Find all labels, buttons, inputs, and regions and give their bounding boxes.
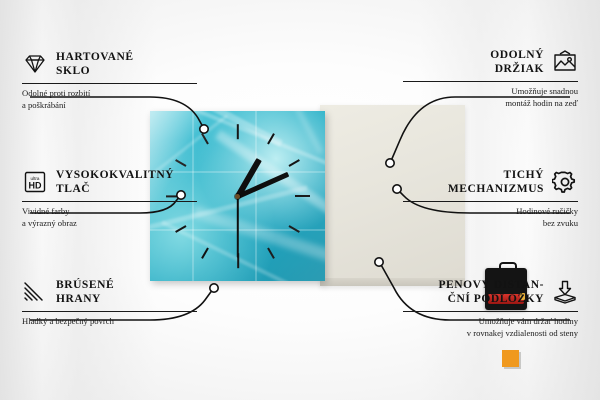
feature-header: HARTOVANÉ SKLO bbox=[22, 50, 197, 78]
feature-divider bbox=[403, 201, 578, 202]
feature-title-line1: HARTOVANÉ bbox=[56, 50, 134, 64]
feature-title: BRÚSENÉ HRANY bbox=[56, 278, 114, 306]
feature-title-line1: PENOVÝ DISTAN- bbox=[438, 278, 544, 292]
foam-spacer-pad bbox=[502, 350, 519, 367]
clock-tick bbox=[267, 247, 275, 258]
feature-header: BRÚSENÉ HRANY bbox=[22, 278, 197, 306]
feature-title: ODOLNÝ DRŽIAK bbox=[490, 48, 544, 76]
clock-tick bbox=[175, 159, 186, 167]
feature-header: ODOLNÝ DRŽIAK bbox=[403, 48, 578, 76]
infographic-canvas: HARTOVANÉ SKLO Odolné proti rozbití a po… bbox=[0, 0, 600, 400]
feature-desc-line2: a výrazný obraz bbox=[22, 218, 197, 230]
feature-silent-mechanism: TICHÝ MECHANIZMUS Hodinové ručičky bez z… bbox=[403, 168, 578, 229]
feature-divider bbox=[22, 201, 197, 202]
feather-streak bbox=[192, 206, 325, 268]
feature-title-line1: BRÚSENÉ bbox=[56, 278, 114, 292]
feature-description: Umožňuje snadnou montáž hodin na zeď bbox=[403, 86, 578, 109]
feature-tempered-glass: HARTOVANÉ SKLO Odolné proti rozbití a po… bbox=[22, 50, 197, 111]
feature-foam-spacers: PENOVÝ DISTAN- ČNÍ PODLOŽKY Umožňuje vám… bbox=[403, 278, 578, 339]
feature-title-line2: MECHANIZMUS bbox=[448, 182, 544, 196]
feature-desc-line2: v rovnakej vzdialenosti od steny bbox=[403, 328, 578, 340]
feature-polished-edges: BRÚSENÉ HRANY Hladký a bezpečný povrch bbox=[22, 278, 197, 328]
feature-title-line2: SKLO bbox=[56, 64, 134, 78]
feature-description: Hladký a bezpečný povrch bbox=[22, 316, 197, 328]
ultra-hd-icon-bottom-label: HD bbox=[29, 181, 42, 191]
glass-panel-seam bbox=[255, 111, 257, 281]
feature-desc-line1: Umožňuje snadnou bbox=[403, 86, 578, 98]
feature-title-line2: HRANY bbox=[56, 292, 114, 306]
feature-desc-line1: Umožňuje vám držať hodiny bbox=[403, 316, 578, 328]
feature-desc-line2: bez zvuku bbox=[403, 218, 578, 230]
feature-title-line1: TICHÝ bbox=[448, 168, 544, 182]
feature-title: HARTOVANÉ SKLO bbox=[56, 50, 134, 78]
feature-header: TICHÝ MECHANIZMUS bbox=[403, 168, 578, 196]
feature-title: PENOVÝ DISTAN- ČNÍ PODLOŽKY bbox=[438, 278, 544, 306]
feature-desc-line1: Hodinové ručičky bbox=[403, 206, 578, 218]
feature-description: Umožňuje vám držať hodiny v rovnakej vzd… bbox=[403, 316, 578, 339]
clock-tick bbox=[236, 124, 238, 139]
feature-title-line2: DRŽIAK bbox=[490, 62, 544, 76]
feature-title-line2: TLAČ bbox=[56, 182, 174, 196]
clock-tick bbox=[295, 195, 310, 197]
feature-description: Vividné farby a výrazný obraz bbox=[22, 206, 197, 229]
feature-header: PENOVÝ DISTAN- ČNÍ PODLOŽKY bbox=[403, 278, 578, 306]
feature-description: Hodinové ručičky bez zvuku bbox=[403, 206, 578, 229]
feature-desc-line2: a poškrábání bbox=[22, 100, 197, 112]
picture-hanger-icon bbox=[552, 50, 578, 74]
gear-icon bbox=[552, 170, 578, 194]
feature-header: ultra HD VYSOKOKVALITNÝ TLAČ bbox=[22, 168, 197, 196]
feature-title-line1: ODOLNÝ bbox=[490, 48, 544, 62]
feature-durable-holder: ODOLNÝ DRŽIAK Umožňuje snadnou montáž ho… bbox=[403, 48, 578, 109]
feature-desc-line1: Vividné farby bbox=[22, 206, 197, 218]
feature-title-line2: ČNÍ PODLOŽKY bbox=[438, 292, 544, 306]
feature-divider bbox=[403, 81, 578, 82]
clock-hands-hub bbox=[235, 194, 240, 199]
feature-description: Odolné proti rozbití a poškrábání bbox=[22, 88, 197, 111]
feature-desc-line1: Odolné proti rozbití bbox=[22, 88, 197, 100]
feature-divider bbox=[403, 311, 578, 312]
feature-high-quality-print: ultra HD VYSOKOKVALITNÝ TLAČ Vividné far… bbox=[22, 168, 197, 229]
clock-tick bbox=[201, 247, 209, 258]
diamond-icon bbox=[22, 52, 48, 76]
feature-title: TICHÝ MECHANIZMUS bbox=[448, 168, 544, 196]
feature-desc-line1: Hladký a bezpečný povrch bbox=[22, 316, 197, 328]
clock-tick bbox=[289, 159, 300, 167]
feature-desc-line2: montáž hodin na zeď bbox=[403, 98, 578, 110]
feature-divider bbox=[22, 311, 197, 312]
hatched-edge-icon bbox=[22, 280, 48, 304]
feature-divider bbox=[22, 83, 197, 84]
press-down-pad-icon bbox=[552, 280, 578, 304]
clock-second-hand bbox=[237, 196, 239, 258]
ultra-hd-icon: ultra HD bbox=[22, 170, 48, 194]
feature-title-line1: VYSOKOKVALITNÝ bbox=[56, 168, 174, 182]
feature-title: VYSOKOKVALITNÝ TLAČ bbox=[56, 168, 174, 196]
